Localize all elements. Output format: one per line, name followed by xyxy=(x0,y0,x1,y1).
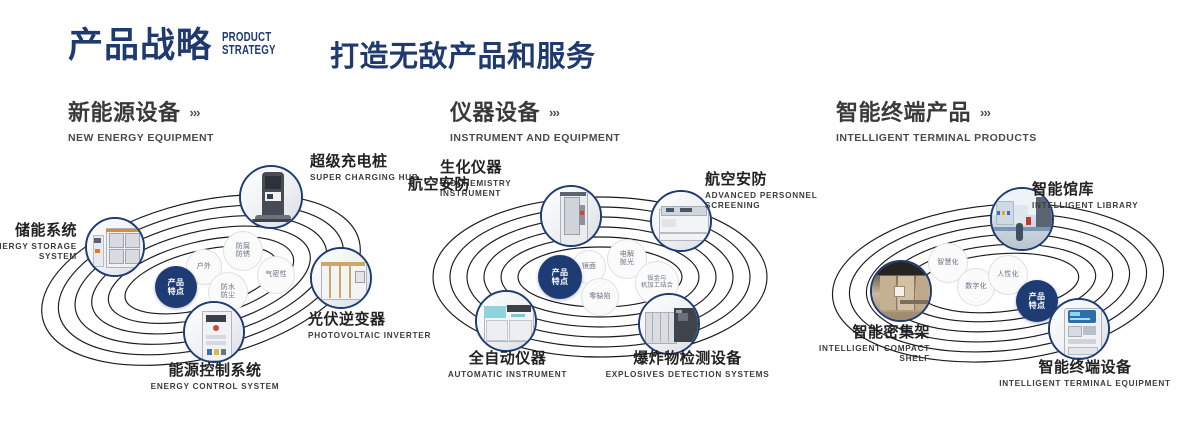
node-intelligent-terminal-equipment[interactable] xyxy=(1048,298,1110,360)
section-title-cn: 智能终端产品 xyxy=(836,95,971,127)
slogan: 打造无敌产品和服务 xyxy=(330,33,596,75)
caption-intelligent-terminal-equipment: 智能终端设备 INTELLIGENT TERMINAL EQUIPMENT xyxy=(985,360,1185,389)
core-bubble-product-features: 产品 特点 xyxy=(538,255,582,299)
product-photo-control-system xyxy=(185,303,243,361)
core-bubble-product-features: 产品 特点 xyxy=(155,266,197,308)
caption-cn: 智能终端设备 xyxy=(985,360,1185,377)
node-automatic-instrument[interactable] xyxy=(475,290,537,352)
caption-intelligent-library: 智能馆库 INTELLIGENT LIBRARY xyxy=(1032,182,1192,211)
section-title-cn: 仪器设备 xyxy=(450,95,540,127)
caption-en: EXPLOSIVES DETECTION SYSTEMS xyxy=(570,370,805,381)
caption-cn: 储能系统 xyxy=(0,223,77,240)
section-title-en: NEW ENERGY EQUIPMENT xyxy=(68,132,214,144)
caption-en: INTELLIGENT LIBRARY xyxy=(1032,201,1192,212)
caption-cn: 能源控制系统 xyxy=(110,363,320,380)
node-energy-control-system[interactable] xyxy=(183,301,245,363)
node-intelligent-compact-shelf[interactable] xyxy=(870,260,932,322)
caption-aviation-security-left: 航空安防 xyxy=(408,177,508,194)
feature-bubble: 防腐 防锈 xyxy=(223,231,263,271)
product-photo-inverter xyxy=(312,249,370,307)
caption-intelligent-compact-shelf: 智能密集架 INTELLIGENT COMPACT SHELF xyxy=(760,325,930,365)
product-photo-terminal-equipment xyxy=(1050,300,1108,358)
cluster-new-energy: 户外 防腐 防锈 防水 防尘 气密性 产品 特点 储能系统 ENERGY STO… xyxy=(5,155,405,405)
chevrons-icon: ››› xyxy=(549,105,559,120)
node-advanced-personnel-screening[interactable] xyxy=(650,190,712,252)
product-photo-energy-storage xyxy=(87,219,143,275)
caption-cn: 智能密集架 xyxy=(760,325,930,342)
section-title-cn: 新能源设备 xyxy=(68,95,181,127)
node-super-charging-hub[interactable] xyxy=(239,165,303,229)
chevrons-icon: ››› xyxy=(190,105,200,120)
caption-en: INTELLIGENT COMPACT SHELF xyxy=(760,344,930,365)
node-energy-storage[interactable] xyxy=(85,217,145,277)
section-header-intelligent-terminal: 智能终端产品 ››› INTELLIGENT TERMINAL PRODUCTS xyxy=(836,95,1037,144)
node-photovoltaic-inverter[interactable] xyxy=(310,247,372,309)
feature-bubble: 气密性 xyxy=(257,256,295,294)
chevrons-icon: ››› xyxy=(980,105,990,120)
section-header-instrument: 仪器设备 ››› INSTRUMENT AND EQUIPMENT xyxy=(450,95,620,144)
caption-cn: 航空安防 xyxy=(408,177,508,194)
page-title: 产品战略 PRODUCT STRATEGY xyxy=(68,28,291,63)
product-photo-explosives-detection xyxy=(640,295,698,353)
product-photo-compact-shelf xyxy=(872,262,930,320)
cluster-instrument: 镜面 电解 抛光 钣金与 机加工结合 零缺陷 产品 特点 生化仪器 BIOCHE… xyxy=(400,155,800,405)
caption-energy-control-system: 能源控制系统 ENERGY CONTROL SYSTEM xyxy=(110,363,320,392)
caption-en: ENERGY CONTROL SYSTEM xyxy=(110,382,320,393)
product-photo-screening xyxy=(652,192,710,250)
product-strategy-infographic: 产品战略 PRODUCT STRATEGY 打造无敌产品和服务 新能源设备 ››… xyxy=(0,0,1200,422)
cluster-intelligent-terminal: 智慧化 数字化 人性化 产品 特点 智能馆库 INTELLIGENT LIBRA… xyxy=(800,155,1200,405)
section-title-en: INTELLIGENT TERMINAL PRODUCTS xyxy=(836,132,1037,144)
product-photo-charging-hub xyxy=(241,167,301,227)
caption-en: INTELLIGENT TERMINAL EQUIPMENT xyxy=(985,379,1185,390)
title-chinese: 产品战略 xyxy=(68,28,212,63)
feature-bubble: 零缺陷 xyxy=(581,278,619,316)
caption-energy-storage: 储能系统 ENERGY STORAGE SYSTEM xyxy=(0,223,77,263)
section-title-en: INSTRUMENT AND EQUIPMENT xyxy=(450,132,620,144)
product-photo-automatic-instrument xyxy=(477,292,535,350)
section-header-new-energy: 新能源设备 ››› NEW ENERGY EQUIPMENT xyxy=(68,95,214,144)
node-explosives-detection[interactable] xyxy=(638,293,700,355)
caption-cn: 智能馆库 xyxy=(1032,182,1192,199)
title-english: PRODUCT STRATEGY xyxy=(222,31,276,57)
caption-en: ENERGY STORAGE SYSTEM xyxy=(0,242,77,263)
caption-cn: 生化仪器 xyxy=(440,160,560,177)
